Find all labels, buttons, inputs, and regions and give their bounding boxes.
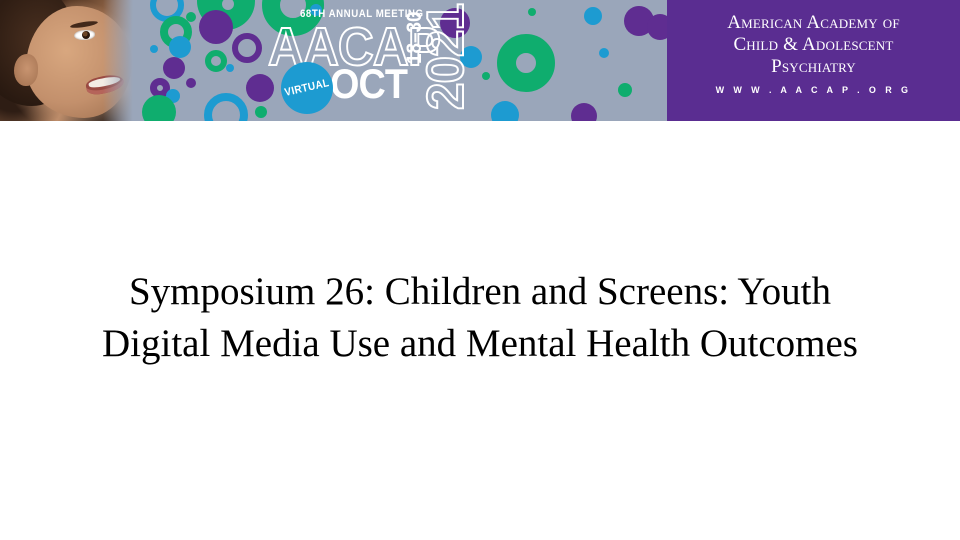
decorative-ring (232, 33, 262, 63)
decorative-dot (186, 12, 196, 22)
logo-line-2: Child & Adolescent (667, 34, 960, 56)
decorative-dot (528, 8, 536, 16)
decorative-dot (163, 57, 185, 79)
photo-ear (14, 54, 38, 86)
decorative-ring (204, 93, 248, 121)
decorative-dot (599, 48, 609, 58)
decorative-dot (246, 74, 274, 102)
banner-graphic-area: 68TH ANNUAL MEETING AACAP OCT 18–30 2021… (0, 0, 667, 121)
decorative-dot (491, 101, 519, 121)
decorative-dot (647, 14, 667, 40)
child-photo (0, 0, 137, 121)
decorative-ring (205, 50, 227, 72)
decorative-dot (186, 78, 196, 88)
logo-website-url: W W W . A A C A P . O R G (667, 85, 960, 95)
year-label: 2021 (420, 4, 472, 110)
decorative-dot (482, 72, 490, 80)
slide-title-line-2: Digital Media Use and Mental Health Outc… (48, 318, 912, 370)
photo-edge-fade (103, 0, 137, 121)
decorative-dot (618, 83, 632, 97)
decorative-dot (142, 95, 176, 121)
decorative-dot (255, 106, 267, 118)
decorative-dot (226, 64, 234, 72)
decorative-dot (169, 36, 191, 58)
month-label: OCT (330, 63, 407, 105)
decorative-dot (150, 45, 158, 53)
decorative-dot (584, 7, 602, 25)
conference-banner: 68TH ANNUAL MEETING AACAP OCT 18–30 2021… (0, 0, 960, 121)
virtual-badge: VIRTUAL (281, 62, 333, 114)
slide-title-line-1: Symposium 26: Children and Screens: Yout… (48, 266, 912, 318)
decorative-dot (199, 10, 233, 44)
slide: 68TH ANNUAL MEETING AACAP OCT 18–30 2021… (0, 0, 960, 540)
slide-title-block: Symposium 26: Children and Screens: Yout… (48, 266, 912, 370)
aacap-logo-panel: American Academy of Child & Adolescent P… (667, 0, 960, 121)
logo-line-3: Psychiatry (667, 56, 960, 78)
logo-line-1: American Academy of (667, 12, 960, 34)
virtual-badge-label: VIRTUAL (284, 77, 331, 99)
aacap-logo-text: American Academy of Child & Adolescent P… (667, 12, 960, 95)
decorative-dot (571, 103, 597, 121)
decorative-ring (497, 34, 555, 92)
